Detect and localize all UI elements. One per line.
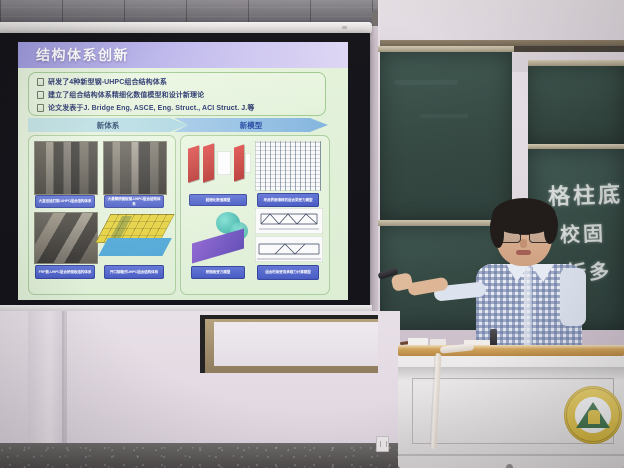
baseboard [0,443,400,468]
bullet-text: 论文发表于J. Bridge Eng, ASCE, Eng. Struct., … [48,103,254,113]
fem-plate [203,143,214,183]
mouth [516,250,531,255]
panel-new-systems: 大直径栓钉钢-UHPC组合结构体系 大悬臂桥面板钢-UHPC组合结构体系 FRP… [28,135,176,295]
banner-label: 新模型 [240,120,263,131]
truss-svg [255,236,323,262]
banner-new-model: 新模型 [174,118,328,132]
truss-svg [255,208,323,234]
panel-caption: 开口钢箱式UHPC组合结构体系 [104,265,164,279]
podium-seam [398,454,624,456]
slide-title: 结构体系创新 [36,45,129,65]
podium-top-edge [398,345,624,356]
podium [398,345,624,468]
deck-3d-model [103,214,167,260]
recess-inner-wall [214,322,378,366]
fem-line-figure [245,153,251,173]
lab-photo [34,212,98,264]
bullet-item: 论文发表于J. Bridge Eng, ASCE, Eng. Struct., … [37,103,254,113]
chalk-smudge [394,80,458,85]
screen-hanger [372,10,378,26]
deck-side-face [98,238,172,256]
lab-photo [34,141,98,195]
bullet-marker-icon [37,104,44,112]
bullet-marker-icon [37,91,44,99]
panel-caption: 超细化数值模型 [189,194,247,206]
panel-caption: 桥面板受力模型 [191,266,245,279]
emblem-shading [564,386,622,444]
truss-diagram-bottom [255,236,323,262]
panel-caption: FRP筋-UHPC组合桥面板结构体系 [35,265,95,279]
shirt-sleeve-right [560,268,586,326]
banner-new-system: 新体系 [28,118,188,132]
fem-plate [188,145,199,183]
microphone [490,329,497,346]
banner-label: 新体系 [97,120,120,131]
plate-model [192,229,244,264]
shell-model-diagram [186,210,252,262]
chalkboard-panel-left [380,52,512,220]
chalk-smudge [420,114,468,118]
wall-outlet [376,436,389,452]
panel-new-models: 超细化数值模型 考虑界面滑移的组合梁受力模型 [180,135,330,295]
podium-knob [506,464,513,468]
fem-plate [234,144,244,181]
panel-caption: 大直径栓钉钢-UHPC组合结构体系 [35,195,95,208]
presenter [470,196,590,364]
bullet-item: 建立了组合结构体系精细化数值模型和设计新理论 [37,90,204,100]
lab-photo [103,141,167,195]
panel-caption: 考虑界面滑移的组合梁受力模型 [257,193,319,207]
university-emblem [564,386,622,444]
truss-diagram-top [255,208,323,234]
bullet-marker-icon [37,78,44,86]
screen-roller-knob [342,26,347,29]
baseboard-texture [0,443,400,468]
hair-sideburn-right [544,212,558,244]
fem-plate-diagram [186,141,252,191]
rebar-diagram-grid [255,141,321,191]
panel-caption: 大悬臂桥面板钢-UHPC组合结构体系 [104,195,164,208]
chalkboard-panel-right [528,66,624,144]
slide-bullet-box: 研发了4种新型钢-UHPC组合结构体系 建立了组合结构体系精细化数值模型和设计新… [28,72,326,116]
projected-slide: 结构体系创新 研发了4种新型钢-UHPC组合结构体系 建立了组合结构体系精细化数… [18,42,348,300]
lecture-hall-photo: 格柱底 校固 折多 结构体系创新 研发了4种新型钢-UHPC组合结构体系 建立了… [0,0,624,468]
bullet-text: 研发了4种新型钢-UHPC组合结构体系 [48,77,167,87]
podium-top-highlight [398,345,624,349]
bullet-text: 建立了组合结构体系精细化数值模型和设计新理论 [48,90,204,100]
slide-banner-row: 新体系 新模型 [28,118,328,132]
hair-sideburn-left [490,214,504,248]
bullet-item: 研发了4种新型钢-UHPC组合结构体系 [37,77,167,87]
slide-content-panels: 大直径栓钉钢-UHPC组合结构体系 大悬臂桥面板钢-UHPC组合结构体系 FRP… [28,135,328,293]
panel-caption: 组合桁架受弯承载力计算模型 [257,265,319,280]
fem-line-figure [217,151,231,175]
